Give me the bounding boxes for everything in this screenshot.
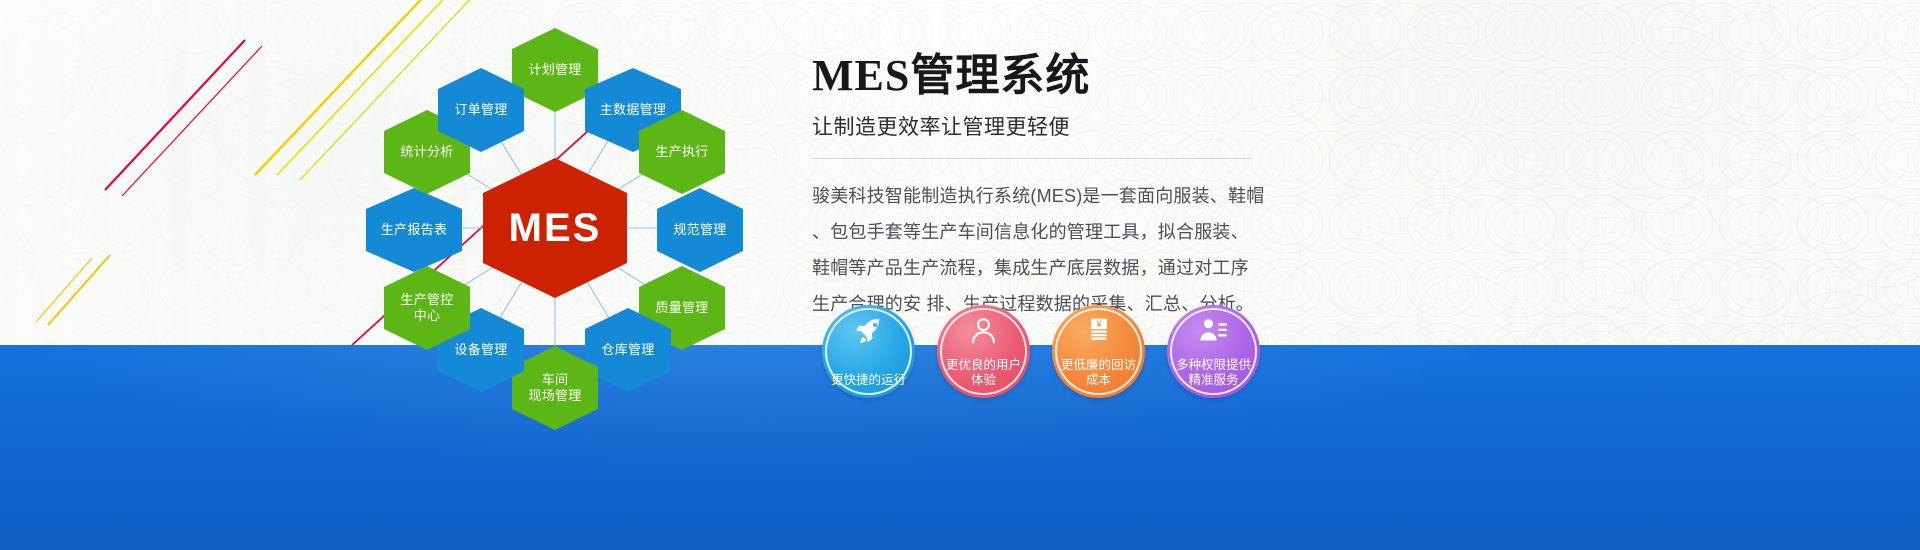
hex-node-8-label: 生产管控 中心	[396, 292, 457, 325]
divider	[812, 158, 1252, 159]
description-line-1: 、包包手套等生产车间信息化的管理工具，拟合服装、	[812, 214, 1812, 250]
hex-node-center-label: MES	[505, 203, 606, 253]
hex-node-6-label: 车间 现场管理	[524, 372, 585, 405]
feature-badge-label: 更低廉的回访 成本	[1052, 358, 1145, 398]
hero-text-block: MES管理系统 让制造更效率让管理更轻便 骏美科技智能制造执行系统(MES)是一…	[812, 52, 1812, 322]
money-icon: ¥	[1052, 316, 1145, 344]
description-paragraph: 骏美科技智能制造执行系统(MES)是一套面向服装、鞋帽 、包包手套等生产车间信息…	[812, 178, 1812, 322]
svg-text:¥: ¥	[1095, 319, 1101, 329]
feature-badge-label: 多种权限提供 精准服务	[1167, 358, 1260, 398]
feature-badge-low-cost[interactable]: ¥ 更低廉的回访 成本	[1052, 305, 1145, 398]
page-subtitle: 让制造更效率让管理更轻便	[812, 111, 1812, 141]
feature-badge-fast-run[interactable]: 更快捷的运行	[822, 305, 915, 398]
feature-badge-list: 更快捷的运行 更优良的用户 体验 ¥	[822, 305, 1260, 398]
feature-badge-label: 更快捷的运行	[822, 373, 915, 398]
permission-icon	[1167, 316, 1260, 345]
mes-hexagon-diagram: MES 计划管理 主数据管理 生产执行 规范管理 质量管理 仓库管理 车间 现场…	[330, 20, 780, 450]
page-title: MES管理系统	[812, 52, 1812, 100]
hex-node-7-label: 设备管理	[450, 342, 511, 358]
feature-badge-user-experience[interactable]: 更优良的用户 体验	[937, 305, 1030, 398]
description-line-2: 鞋帽等产品生产流程，集成生产底层数据，通过对工序	[812, 250, 1812, 286]
hex-node-4-label: 质量管理	[651, 300, 712, 316]
user-icon	[937, 316, 1030, 345]
hex-node-5-label: 仓库管理	[597, 342, 658, 358]
hex-node-1-label: 主数据管理	[596, 102, 671, 118]
hex-node-11-label: 订单管理	[450, 102, 511, 118]
hex-node-0-label: 计划管理	[524, 62, 585, 78]
feature-badge-label: 更优良的用户 体验	[937, 358, 1030, 398]
hex-node-9-label: 生产报告表	[377, 222, 452, 238]
hero-banner: MES 计划管理 主数据管理 生产执行 规范管理 质量管理 仓库管理 车间 现场…	[0, 0, 1920, 550]
hex-node-3-label: 规范管理	[669, 222, 730, 238]
description-line-0: 骏美科技智能制造执行系统(MES)是一套面向服装、鞋帽	[812, 178, 1812, 214]
hex-node-2-label: 生产执行	[651, 144, 712, 160]
feature-badge-permissions[interactable]: 多种权限提供 精准服务	[1167, 305, 1260, 398]
hex-node-10-label: 统计分析	[396, 144, 457, 160]
rocket-icon	[822, 316, 915, 346]
